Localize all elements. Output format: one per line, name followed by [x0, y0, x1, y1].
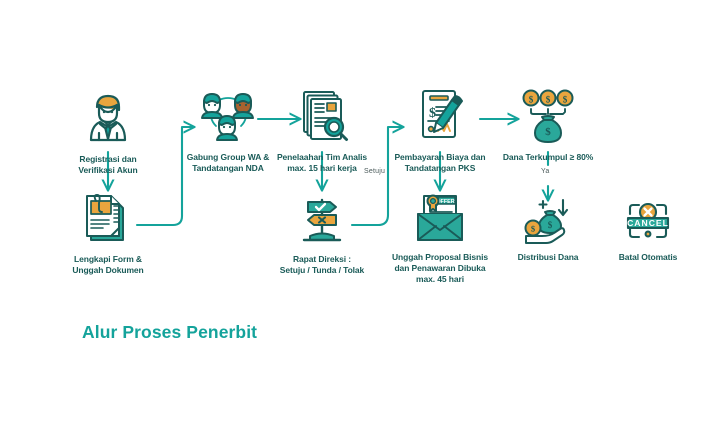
node-label: Distribusi Dana	[497, 252, 599, 263]
node-registrasi[interactable]: Registrasi dan Verifikasi Akun	[48, 88, 168, 176]
node-batal[interactable]: CANCEL Batal Otomatis	[597, 198, 699, 263]
svg-text:$: $	[546, 95, 551, 105]
form-documents-icon	[48, 192, 168, 251]
svg-text:$: $	[548, 220, 553, 230]
node-unggah[interactable]: OFFER Unggah Proposal Bisnis dan Penawar…	[380, 192, 500, 285]
node-label: Unggah Proposal Bisnis dan Penawaran Dib…	[380, 252, 500, 285]
node-distribusi[interactable]: $ $ Distribusi Dana	[497, 198, 599, 263]
documents-magnifier-icon	[262, 86, 382, 149]
node-label: Batal Otomatis	[597, 252, 699, 263]
node-lengkapi[interactable]: Lengkapi Form & Unggah Dokumen	[48, 192, 168, 276]
node-rapat[interactable]: Rapat Direksi : Setuju / Tunda / Tolak	[262, 192, 382, 276]
coins-money-bag-icon: $ $ $ $	[492, 88, 604, 149]
edge-label-ya: Ya	[541, 168, 549, 175]
node-label: Rapat Direksi : Setuju / Tunda / Tolak	[262, 254, 382, 276]
node-label: Registrasi dan Verifikasi Akun	[48, 154, 168, 176]
hand-money-bag-icon: $ $	[497, 198, 599, 249]
svg-text:CANCEL: CANCEL	[627, 218, 669, 228]
node-label: Lengkapi Form & Unggah Dokumen	[48, 254, 168, 276]
node-pembayaran[interactable]: $ Pembayaran Biaya dan Tandatangan PKS	[380, 86, 500, 174]
node-penelaahan[interactable]: Penelaahan Tim Analis max. 15 hari kerja	[262, 86, 382, 174]
cancel-badge-icon: CANCEL	[597, 198, 699, 249]
node-dana[interactable]: $ $ $ $ Dana Terkumpul ≥ 80%	[492, 88, 604, 163]
node-label: Dana Terkumpul ≥ 80%	[492, 152, 604, 163]
svg-text:$: $	[429, 106, 436, 121]
signpost-decision-icon	[262, 192, 382, 251]
person-avatar-icon	[48, 88, 168, 151]
contract-pen-icon: $	[380, 86, 500, 149]
svg-text:$: $	[563, 95, 568, 105]
envelope-offer-icon: OFFER	[380, 192, 500, 249]
page-title: Alur Proses Penerbit	[82, 322, 257, 343]
node-label: Pembayaran Biaya dan Tandatangan PKS	[380, 152, 500, 174]
svg-text:$: $	[529, 95, 534, 105]
node-label: Penelaahan Tim Analis max. 15 hari kerja	[262, 152, 382, 174]
svg-text:$: $	[545, 126, 551, 138]
